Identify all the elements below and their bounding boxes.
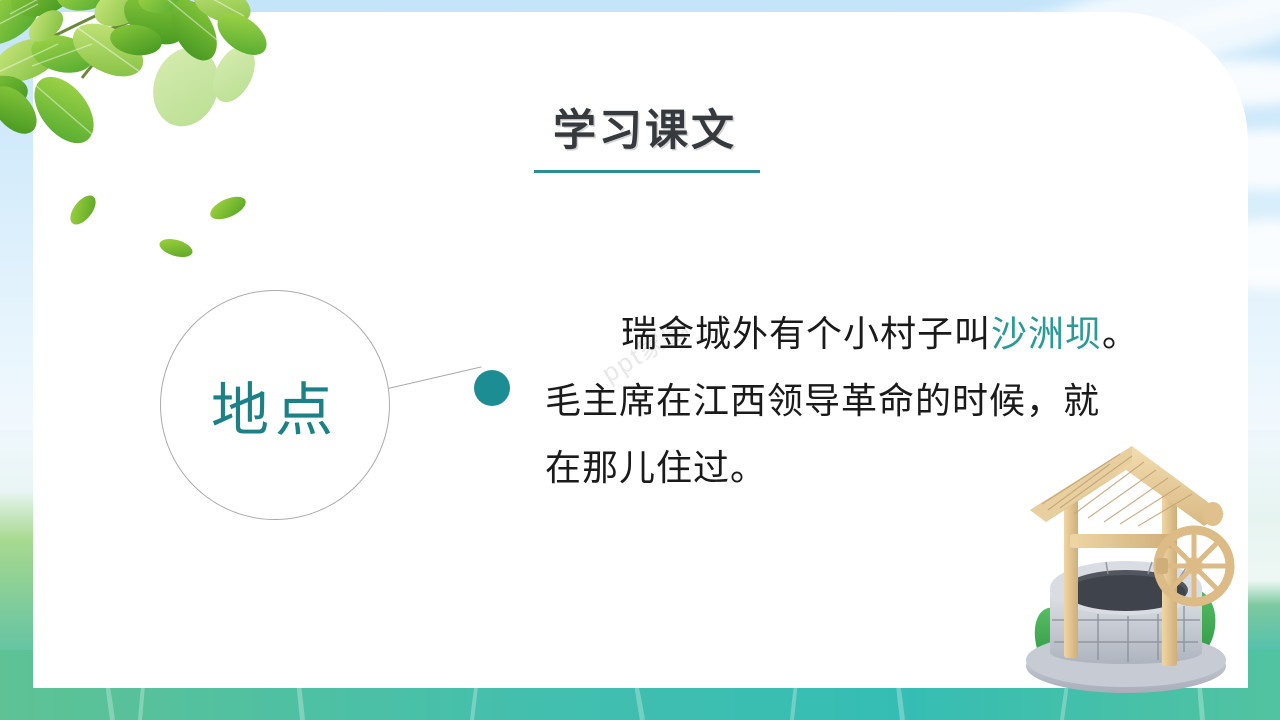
floating-leaves-icon xyxy=(58,188,288,272)
leaf-icon xyxy=(65,191,100,229)
passage-line-2: 毛主席在江西领导革命的时候，就 xyxy=(545,367,1170,434)
callout-label: 地点 xyxy=(211,363,339,447)
title-underline xyxy=(534,170,760,173)
passage-line-1-after: 。 xyxy=(1102,313,1139,354)
well-post xyxy=(1064,498,1078,658)
stone-well-icon xyxy=(1008,438,1258,696)
passage-line-1-before: 瑞金城外有个小村子叫 xyxy=(621,313,991,354)
passage-highlight-place: 沙洲坝 xyxy=(991,313,1102,354)
leaf-icon xyxy=(207,192,249,224)
slide-canvas: 学习课文 地点 ppt家园 瑞金城外有个小村子叫沙洲坝。 毛主席在江西领导革命的… xyxy=(0,0,1280,720)
well-crossbeam xyxy=(1070,534,1174,548)
callout-dot xyxy=(474,370,510,406)
passage-line-1: 瑞金城外有个小村子叫沙洲坝。 xyxy=(545,300,1170,367)
page-title: 学习课文 xyxy=(440,96,850,158)
callout-circle: 地点 xyxy=(160,290,390,520)
leaf-icon xyxy=(157,236,194,261)
